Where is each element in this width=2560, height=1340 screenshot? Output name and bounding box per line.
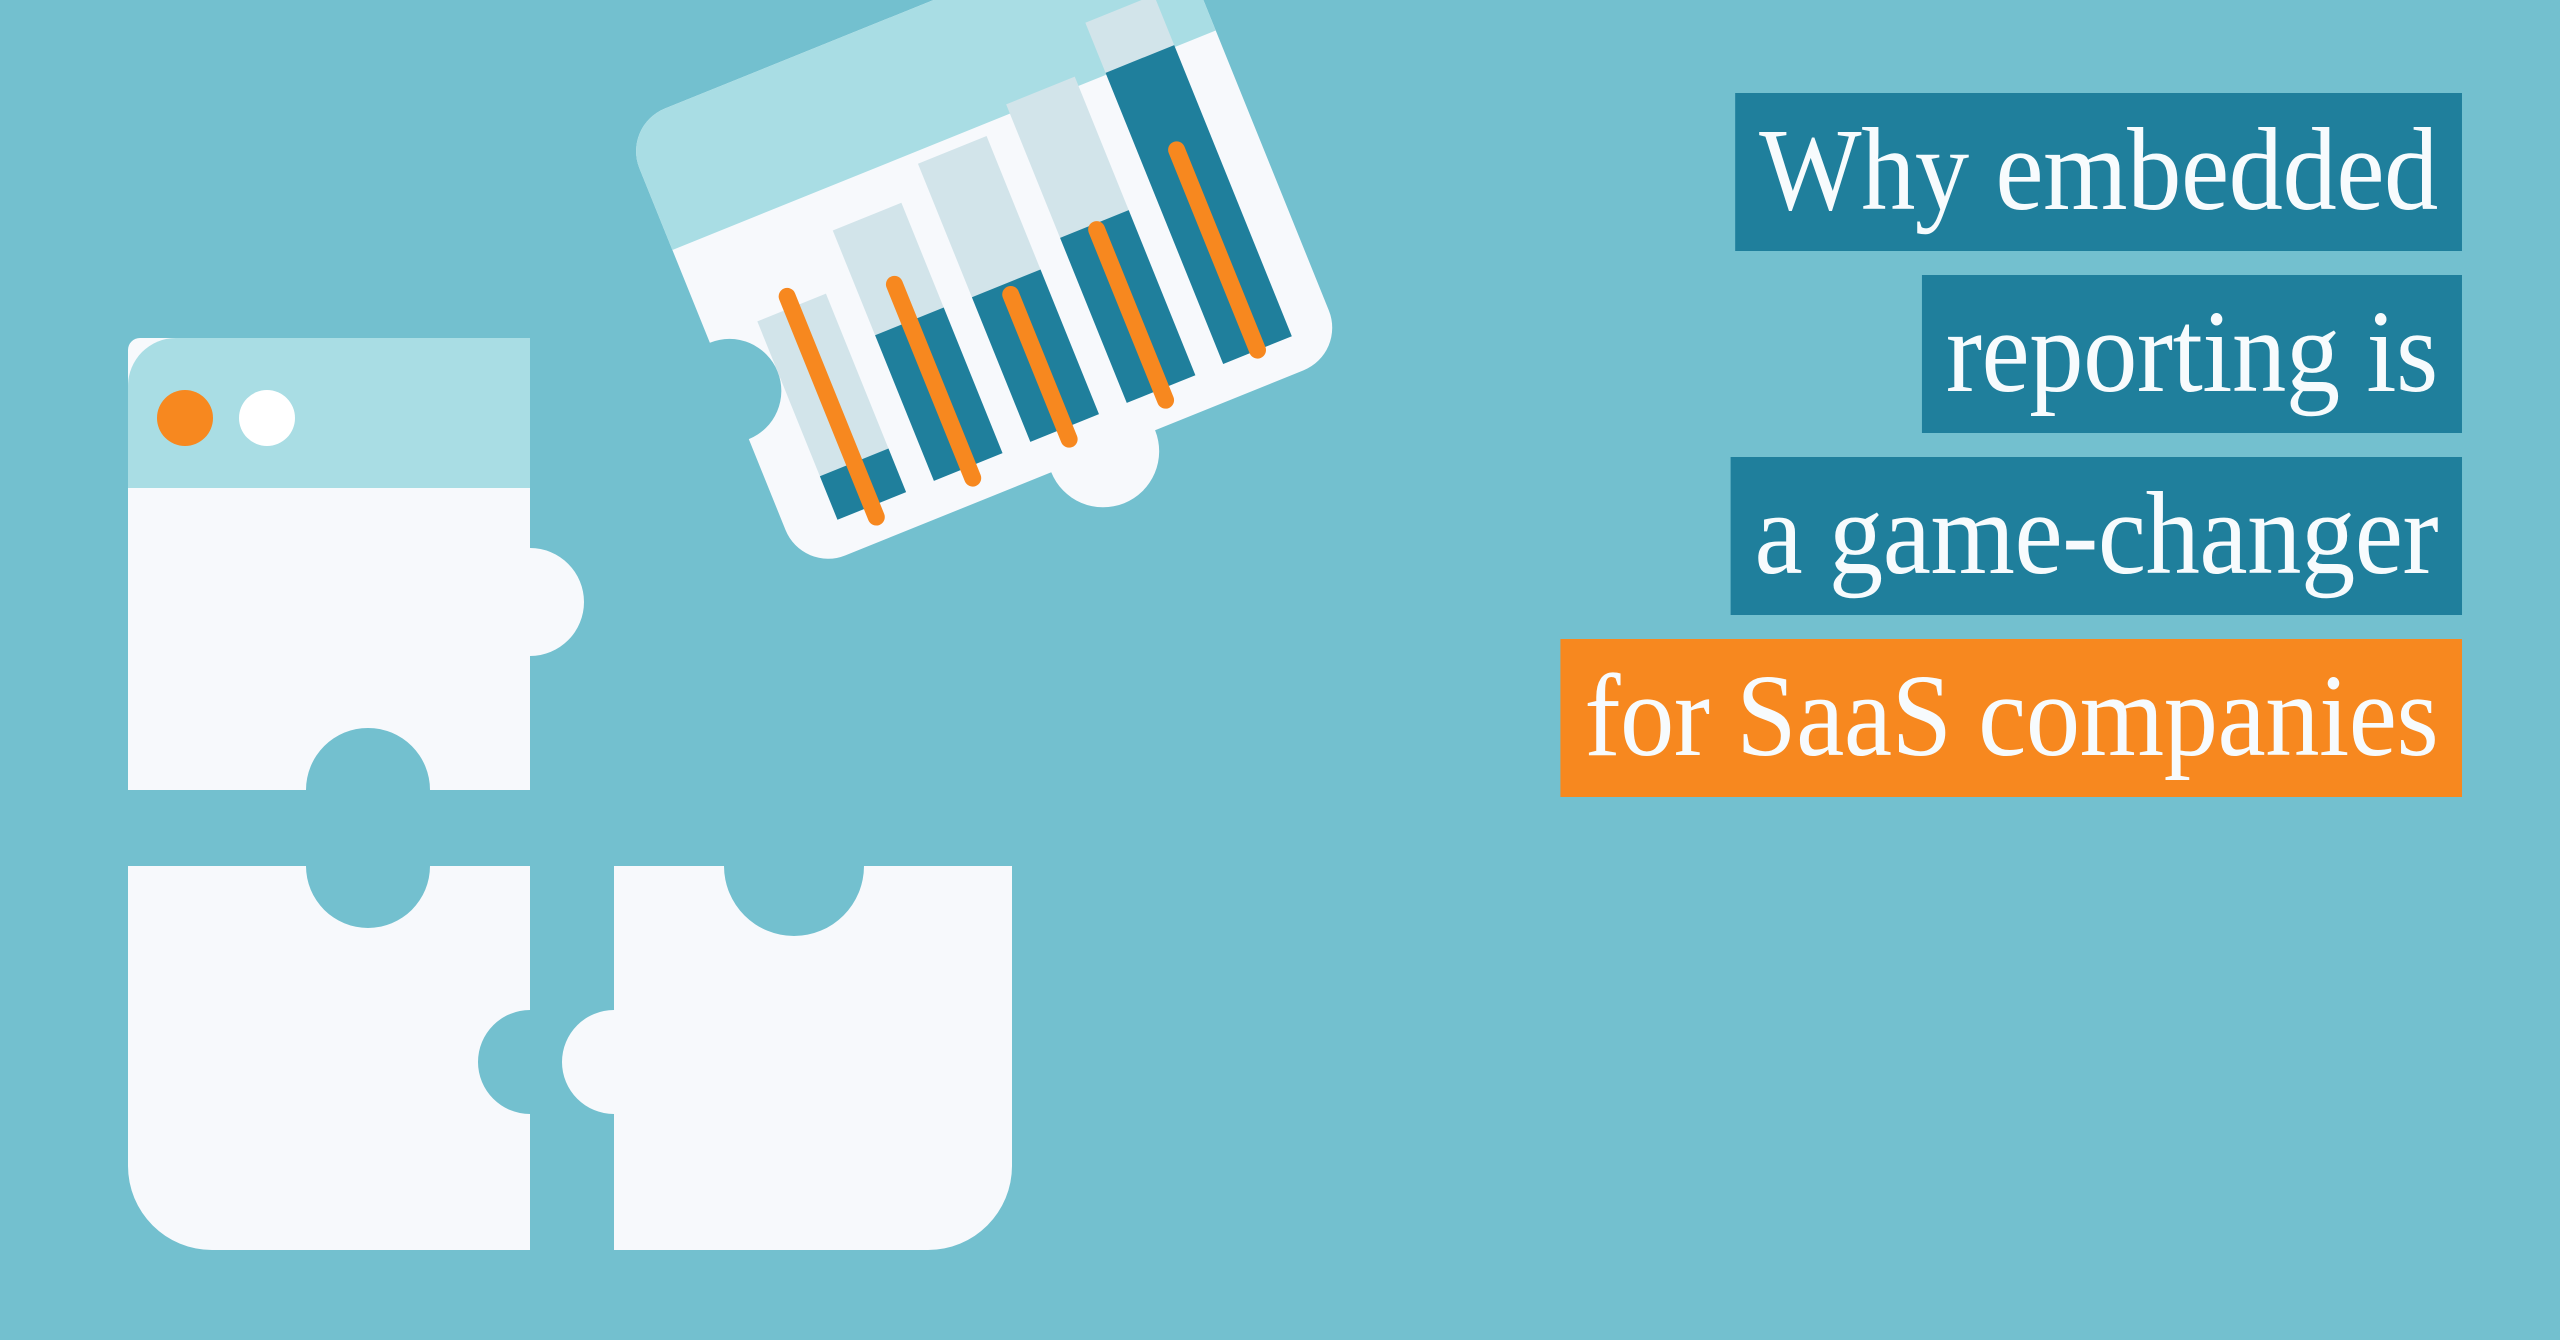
poster-canvas: Why embedded reporting is a game-changer… — [0, 0, 2560, 1340]
window-dot-orange — [157, 390, 213, 446]
headline-line-1: Why embedded — [1735, 93, 2462, 251]
report-card-piece — [622, 0, 1367, 625]
headline-line-4: for SaaS companies — [1560, 639, 2462, 797]
puzzle-piece-bottom-right — [562, 866, 1012, 1250]
window-dot-white — [239, 390, 295, 446]
headline-line-2: reporting is — [1922, 275, 2462, 433]
puzzle-piece-top-left — [128, 338, 584, 790]
headline-line-3: a game-changer — [1730, 457, 2462, 615]
headline-block: Why embedded reporting is a game-changer… — [1482, 93, 2462, 797]
puzzle-piece-bottom-left — [128, 866, 530, 1250]
